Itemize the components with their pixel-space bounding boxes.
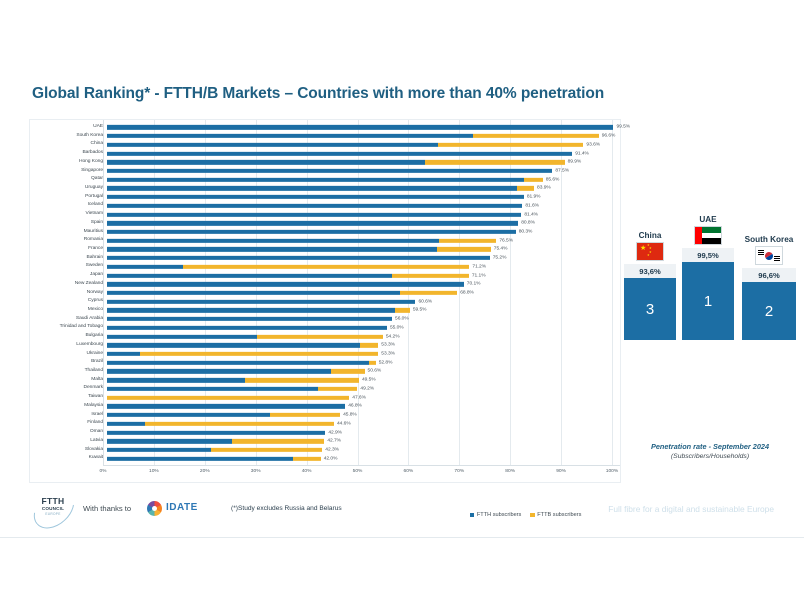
chart-value-label: 53.3%: [381, 352, 395, 357]
chart-category-label: Uruguay: [30, 186, 107, 191]
chart-value-label: 47.6%: [352, 395, 366, 400]
chart-bar-segment-ftth: [107, 195, 524, 199]
idate-logo-icon: [147, 501, 162, 516]
chart-category-label: Kuwait: [30, 456, 107, 461]
chart-bar-segment-fttb: [439, 239, 497, 243]
chart-value-label: 49.2%: [360, 386, 374, 391]
podium-country-name: China: [624, 231, 676, 240]
chart-value-label: 83.9%: [537, 186, 551, 191]
chart-bar-container: 53.3%: [107, 341, 620, 350]
chart-category-label: South Korea: [30, 134, 107, 139]
podium-country-name: UAE: [682, 215, 734, 224]
podium-value: 93,6%: [624, 264, 676, 278]
chart-bar-track: [107, 430, 620, 434]
chart-value-label: 60.6%: [418, 299, 432, 304]
chart-value-label: 56.0%: [395, 317, 409, 322]
chart-bar-segment-ftth: [107, 343, 360, 347]
chart-bar-container: 75.4%: [107, 245, 620, 254]
chart-bar-segment-ftth: [107, 186, 517, 190]
chart-category-label: New Zealand: [30, 282, 107, 287]
chart-x-tick-label: 10%: [149, 469, 159, 474]
top3-podium: China★★★★★93,6%3UAE99,5%1South Korea96,6…: [624, 225, 796, 340]
podium-item: UAE99,5%1: [682, 215, 734, 340]
chart-bar-container: 47.6%: [107, 393, 620, 402]
chart-row: Trinidad and Tobago55.0%: [30, 324, 620, 333]
chart-row: Thailand50.6%: [30, 367, 620, 376]
chart-row: Mauritius80.3%: [30, 228, 620, 237]
chart-value-label: 80.8%: [521, 221, 535, 226]
chart-value-label: 85.6%: [546, 177, 560, 182]
chart-bar-segment-ftth: [107, 378, 245, 382]
chart-bar-track: [107, 317, 620, 321]
chart-value-label: 42.0%: [324, 456, 338, 461]
chart-row: Latvia42.7%: [30, 437, 620, 446]
chart-category-label: Denmark: [30, 386, 107, 391]
chart-bar-segment-ftth: [107, 291, 400, 295]
chart-bar-track: [107, 369, 620, 373]
podium-rank-block: 1: [682, 262, 734, 340]
chart-value-label: 42.9%: [328, 430, 342, 435]
chart-category-label: Singapore: [30, 169, 107, 174]
chart-bar-segment-ftth: [107, 204, 522, 208]
logo-arc-icon: [26, 482, 82, 537]
chart-bar-container: 70.1%: [107, 280, 620, 289]
chart-row: Brazil52.8%: [30, 358, 620, 367]
chart-value-label: 44.6%: [337, 421, 351, 426]
chart-category-label: Portugal: [30, 195, 107, 200]
chart-caption: Penetration rate - September 2024 (Subsc…: [624, 442, 796, 460]
chart-category-label: Saudi Arabia: [30, 317, 107, 322]
chart-bar-segment-ftth: [107, 125, 613, 129]
chart-category-label: Latvia: [30, 439, 107, 444]
chart-bar-segment-ftth: [107, 300, 415, 304]
podium-item: China★★★★★93,6%3: [624, 231, 676, 340]
chart-category-label: Cyprus: [30, 299, 107, 304]
tagline: Full fibre for a digital and sustainable…: [608, 504, 774, 514]
chart-bar-segment-fttb: [437, 247, 491, 251]
chart-bar-container: 52.8%: [107, 358, 620, 367]
chart-bar-container: 83.9%: [107, 184, 620, 193]
idate-logo-text: IDATE: [166, 502, 198, 513]
chart-bar-container: 89.9%: [107, 158, 620, 167]
chart-bar-track: [107, 361, 620, 365]
chart-bar-segment-fttb: [392, 273, 469, 277]
footer: FTTH COUNCIL EUROPE With thanks to IDATE…: [0, 486, 804, 534]
chart-row: Ukraine53.3%: [30, 350, 620, 359]
chart-row: Malta49.5%: [30, 376, 620, 385]
chart-bar-segment-fttb: [270, 413, 340, 417]
chart-row: Japan71.1%: [30, 271, 620, 280]
chart-bar-container: 42.0%: [107, 454, 620, 463]
chart-category-label: Spain: [30, 221, 107, 226]
chart-bar-track: [107, 256, 620, 260]
chart-row: Malaysia46.8%: [30, 402, 620, 411]
chart-bar-segment-ftth: [107, 352, 140, 356]
chart-value-label: 46.8%: [348, 404, 362, 409]
chart-category-label: France: [30, 247, 107, 252]
chart-bar-segment-fttb: [145, 422, 334, 426]
chart-bar-container: 87.5%: [107, 167, 620, 176]
chart-bar-container: 53.3%: [107, 350, 620, 359]
chart-bar-container: 49.2%: [107, 385, 620, 394]
chart-bar-container: 44.6%: [107, 419, 620, 428]
chart-bar-container: 71.1%: [107, 271, 620, 280]
chart-row: Iceland81.6%: [30, 201, 620, 210]
chart-bar-segment-ftth: [107, 169, 552, 173]
chart-row: Kuwait42.0%: [30, 454, 620, 463]
chart-row: Luxembourg53.3%: [30, 341, 620, 350]
chart-value-label: 45.8%: [343, 413, 357, 418]
chart-bar-container: 42.3%: [107, 446, 620, 455]
chart-value-label: 87.5%: [555, 168, 569, 173]
chart-row: Oman42.9%: [30, 428, 620, 437]
chart-category-label: Trinidad and Tobago: [30, 325, 107, 330]
chart-bar-track: [107, 239, 620, 243]
podium-rank-block: 3: [624, 278, 676, 340]
chart-x-tick-label: 90%: [556, 469, 566, 474]
chart-bar-container: 68.8%: [107, 289, 620, 298]
chart-bar-track: [107, 439, 620, 443]
chart-bar-segment-fttb: [211, 448, 322, 452]
chart-bar-track: [107, 134, 620, 138]
chart-category-label: Slovakia: [30, 448, 107, 453]
chart-bar-track: [107, 308, 620, 312]
chart-row: Singapore87.5%: [30, 167, 620, 176]
chart-bar-segment-ftth: [107, 273, 392, 277]
chart-bar-segment-fttb: [257, 334, 383, 338]
chart-row: Hong Kong89.9%: [30, 158, 620, 167]
caption-line-2: (Subscribers/Households): [624, 453, 796, 460]
chart-bar-track: [107, 334, 620, 338]
chart-bar-segment-ftth: [107, 317, 392, 321]
chart-category-label: Malta: [30, 378, 107, 383]
chart-bar-segment-fttb: [395, 308, 410, 312]
chart-row: Romania76.5%: [30, 236, 620, 245]
chart-bar-track: [107, 169, 620, 173]
chart-row: Sweden71.2%: [30, 263, 620, 272]
chart-bar-segment-ftth: [107, 404, 345, 408]
chart-bar-track: [107, 178, 620, 182]
chart-bar-container: 93.6%: [107, 140, 620, 149]
chart-bar-container: 56.0%: [107, 315, 620, 324]
chart-bar-segment-ftth: [107, 457, 293, 461]
chart-bar-segment-ftth: [107, 439, 232, 443]
chart-row: UAE99.5%: [30, 123, 620, 132]
chart-row: Barbados91.4%: [30, 149, 620, 158]
chart-value-label: 81.6%: [525, 203, 539, 208]
chart-bar-segment-ftth: [107, 308, 395, 312]
chart-x-tick-label: 40%: [302, 469, 312, 474]
chart-value-label: 89.9%: [568, 160, 582, 165]
chart-value-label: 52.8%: [379, 360, 393, 365]
chart-bar-container: 46.8%: [107, 402, 620, 411]
chart-value-label: 59.5%: [413, 308, 427, 313]
chart-bar-container: 80.8%: [107, 219, 620, 228]
chart-bar-segment-fttb: [293, 457, 321, 461]
chart-bar-segment-fttb: [245, 378, 359, 382]
chart-category-label: Israel: [30, 413, 107, 418]
chart-bar-track: [107, 195, 620, 199]
chart-bar-segment-fttb: [140, 352, 378, 356]
chart-value-label: 96.6%: [602, 134, 616, 139]
chart-bar-container: 60.6%: [107, 297, 620, 306]
chart-category-label: Sweden: [30, 264, 107, 269]
footer-divider: [0, 537, 804, 538]
chart-bar-segment-fttb: [331, 369, 365, 373]
chart-bar-segment-ftth: [107, 413, 270, 417]
chart-bar-container: 99.5%: [107, 123, 620, 132]
chart-bar-track: [107, 422, 620, 426]
chart-row: Portugal81.9%: [30, 193, 620, 202]
chart-bar-container: 71.2%: [107, 263, 620, 272]
chart-x-tick-label: 60%: [403, 469, 413, 474]
chart-row: China93.6%: [30, 140, 620, 149]
chart-value-label: 75.2%: [493, 256, 507, 261]
chart-category-label: UAE: [30, 125, 107, 130]
chart-bar-segment-fttb: [232, 439, 325, 443]
chart-bar-segment-fttb: [473, 134, 598, 138]
chart-category-label: Japan: [30, 273, 107, 278]
chart-category-label: Malaysia: [30, 404, 107, 409]
flag-cn-icon: ★★★★★: [636, 242, 664, 261]
chart-row: Norway68.8%: [30, 289, 620, 298]
chart-value-label: 54.2%: [386, 334, 400, 339]
chart-bar-container: 49.5%: [107, 376, 620, 385]
chart-bar-track: [107, 326, 620, 330]
chart-bar-track: [107, 151, 620, 155]
chart-bar-segment-ftth: [107, 160, 425, 164]
chart-category-label: Romania: [30, 238, 107, 243]
chart-bar-segment-ftth: [107, 230, 516, 234]
page-title: Global Ranking* - FTTH/B Markets – Count…: [32, 85, 604, 103]
chart-row: Denmark49.2%: [30, 385, 620, 394]
chart-plot-area: UAE99.5%South Korea96.6%China93.6%Barbad…: [30, 120, 620, 482]
chart-value-label: 93.6%: [586, 142, 600, 147]
chart-row: Spain80.8%: [30, 219, 620, 228]
chart-x-tick-label: 100%: [606, 469, 619, 474]
chart-bar-container: 55.0%: [107, 324, 620, 333]
chart-bar-segment-ftth: [107, 212, 521, 216]
chart-value-label: 75.4%: [494, 247, 508, 252]
chart-bar-track: [107, 125, 620, 129]
chart-x-axis: 0%10%20%30%40%50%60%70%80%90%100%: [103, 465, 620, 482]
chart-category-label: Bulgaria: [30, 334, 107, 339]
chart-bar-segment-ftth: [107, 247, 437, 251]
chart-bar-segment-fttb: [517, 186, 534, 190]
chart-value-label: 99.5%: [616, 125, 630, 130]
podium-value: 96,6%: [742, 268, 796, 282]
chart-x-tick-label: 30%: [251, 469, 261, 474]
chart-bar-container: 81.9%: [107, 193, 620, 202]
chart-bar-track: [107, 204, 620, 208]
chart-row: Slovakia42.3%: [30, 446, 620, 455]
chart-bar-track: [107, 230, 620, 234]
chart-bar-segment-ftth: [107, 178, 524, 182]
podium-value: 99,5%: [682, 248, 734, 262]
chart-bar-track: [107, 300, 620, 304]
chart-bar-track: [107, 247, 620, 251]
chart-category-label: Oman: [30, 430, 107, 435]
chart-row: Cyprus60.6%: [30, 297, 620, 306]
chart-bar-track: [107, 160, 620, 164]
chart-value-label: 49.5%: [362, 378, 376, 383]
chart-row: Finland44.6%: [30, 419, 620, 428]
chart-row: Mexico59.5%: [30, 306, 620, 315]
chart-row: South Korea96.6%: [30, 132, 620, 141]
chart-row: New Zealand70.1%: [30, 280, 620, 289]
chart-bar-segment-fttb: [318, 387, 357, 391]
chart-bar-segment-ftth: [107, 282, 464, 286]
chart-value-label: 55.0%: [390, 325, 404, 330]
chart-category-label: Hong Kong: [30, 160, 107, 165]
footnote: (*)Study excludes Russia and Belarus: [231, 505, 342, 512]
chart-bar-rows: UAE99.5%South Korea96.6%China93.6%Barbad…: [30, 123, 620, 463]
chart-bar-segment-ftth: [107, 422, 145, 426]
chart-value-label: 42.7%: [327, 439, 341, 444]
chart-bar-segment-ftth: [107, 151, 572, 155]
chart-panel: UAE99.5%South Korea96.6%China93.6%Barbad…: [29, 119, 621, 483]
chart-bar-container: 54.2%: [107, 332, 620, 341]
caption-line-1: Penetration rate - September 2024: [624, 442, 796, 451]
chart-row: Saudi Arabia56.0%: [30, 315, 620, 324]
chart-x-tick-label: 0%: [99, 469, 106, 474]
chart-x-tick-label: 80%: [505, 469, 515, 474]
chart-category-label: Brazil: [30, 360, 107, 365]
slide-root: Global Ranking* - FTTH/B Markets – Count…: [0, 0, 804, 600]
chart-bar-track: [107, 273, 620, 277]
chart-category-label: Luxembourg: [30, 343, 107, 348]
chart-row: Bahrain75.2%: [30, 254, 620, 263]
chart-value-label: 42.3%: [325, 447, 339, 452]
chart-bar-track: [107, 221, 620, 225]
flag-ae-icon: [694, 226, 722, 245]
chart-category-label: Taiwan: [30, 395, 107, 400]
chart-x-tick-label: 50%: [353, 469, 363, 474]
chart-bar-container: 81.4%: [107, 210, 620, 219]
chart-bar-segment-ftth: [107, 334, 257, 338]
chart-bar-container: 91.4%: [107, 149, 620, 158]
chart-value-label: 91.4%: [575, 151, 589, 156]
chart-category-label: Thailand: [30, 369, 107, 374]
chart-category-label: Mexico: [30, 308, 107, 313]
chart-category-label: Ukraine: [30, 352, 107, 357]
chart-value-label: 71.1%: [472, 273, 486, 278]
chart-bar-container: 80.3%: [107, 228, 620, 237]
chart-bar-segment-ftth: [107, 387, 318, 391]
thanks-text: With thanks to: [83, 504, 131, 513]
chart-value-label: 53.3%: [381, 343, 395, 348]
chart-bar-track: [107, 265, 620, 269]
chart-bar-segment-fttb: [360, 343, 378, 347]
chart-bar-container: 81.6%: [107, 201, 620, 210]
chart-bar-track: [107, 352, 620, 356]
chart-bar-track: [107, 448, 620, 452]
chart-bar-segment-ftth: [107, 430, 325, 434]
chart-bar-segment-fttb: [524, 178, 542, 182]
chart-bar-segment-ftth: [107, 134, 473, 138]
chart-category-label: Barbados: [30, 151, 107, 156]
chart-bar-segment-fttb: [369, 361, 376, 365]
chart-bar-container: 96.6%: [107, 132, 620, 141]
chart-value-label: 81.9%: [527, 195, 541, 200]
chart-x-tick-label: 70%: [454, 469, 464, 474]
chart-category-label: Iceland: [30, 203, 107, 208]
podium-country-name: South Korea: [742, 235, 796, 244]
chart-row: France75.4%: [30, 245, 620, 254]
chart-value-label: 70.1%: [467, 282, 481, 287]
chart-bar-container: 59.5%: [107, 306, 620, 315]
chart-category-label: Norway: [30, 291, 107, 296]
chart-bar-container: 76.5%: [107, 236, 620, 245]
chart-bar-track: [107, 413, 620, 417]
chart-bar-segment-ftth: [107, 361, 369, 365]
chart-x-tick-label: 20%: [200, 469, 210, 474]
chart-bar-segment-fttb: [183, 265, 469, 269]
chart-bar-segment-ftth: [107, 221, 518, 225]
chart-bar-track: [107, 343, 620, 347]
chart-row: Taiwan47.6%: [30, 393, 620, 402]
chart-bar-container: 75.2%: [107, 254, 620, 263]
chart-value-label: 68.8%: [460, 291, 474, 296]
chart-category-label: China: [30, 142, 107, 147]
podium-rank-block: 2: [742, 282, 796, 340]
chart-bar-segment-ftth: [107, 448, 211, 452]
chart-bar-segment-ftth: [107, 265, 183, 269]
chart-bar-container: 45.8%: [107, 411, 620, 420]
chart-category-label: Qatar: [30, 177, 107, 182]
chart-value-label: 80.3%: [519, 229, 533, 234]
chart-bar-container: 50.6%: [107, 367, 620, 376]
chart-row: Uruguay83.9%: [30, 184, 620, 193]
chart-bar-segment-ftth: [107, 256, 490, 260]
chart-bar-segment-fttb: [438, 143, 584, 147]
chart-row: Qatar85.6%: [30, 175, 620, 184]
chart-value-label: 76.5%: [499, 238, 513, 243]
chart-bar-container: 42.7%: [107, 437, 620, 446]
chart-bar-segment-ftth: [107, 239, 439, 243]
chart-value-label: 71.2%: [472, 264, 486, 269]
chart-bar-track: [107, 291, 620, 295]
chart-category-label: Mauritius: [30, 230, 107, 235]
chart-bar-track: [107, 404, 620, 408]
flag-kr-icon: [755, 246, 783, 265]
chart-value-label: 50.6%: [368, 369, 382, 374]
ftth-council-europe-logo: FTTH COUNCIL EUROPE: [30, 490, 76, 524]
chart-row: Vietnam81.4%: [30, 210, 620, 219]
chart-bar-track: [107, 457, 620, 461]
chart-bar-track: [107, 282, 620, 286]
chart-bar-container: 42.9%: [107, 428, 620, 437]
chart-row: Bulgaria54.2%: [30, 332, 620, 341]
chart-bar-track: [107, 212, 620, 216]
chart-bar-segment-ftth: [107, 326, 387, 330]
chart-row: Israel45.8%: [30, 411, 620, 420]
chart-bar-segment-fttb: [425, 160, 564, 164]
podium-item: South Korea96,6%2: [742, 235, 796, 340]
chart-bar-segment-fttb: [107, 395, 349, 399]
chart-bar-segment-ftth: [107, 143, 438, 147]
chart-category-label: Finland: [30, 421, 107, 426]
chart-bar-segment-fttb: [400, 291, 458, 295]
chart-category-label: Vietnam: [30, 212, 107, 217]
chart-bar-segment-ftth: [107, 369, 331, 373]
chart-bar-container: 85.6%: [107, 175, 620, 184]
chart-bar-track: [107, 143, 620, 147]
chart-category-label: Bahrain: [30, 256, 107, 261]
chart-value-label: 81.4%: [524, 212, 538, 217]
